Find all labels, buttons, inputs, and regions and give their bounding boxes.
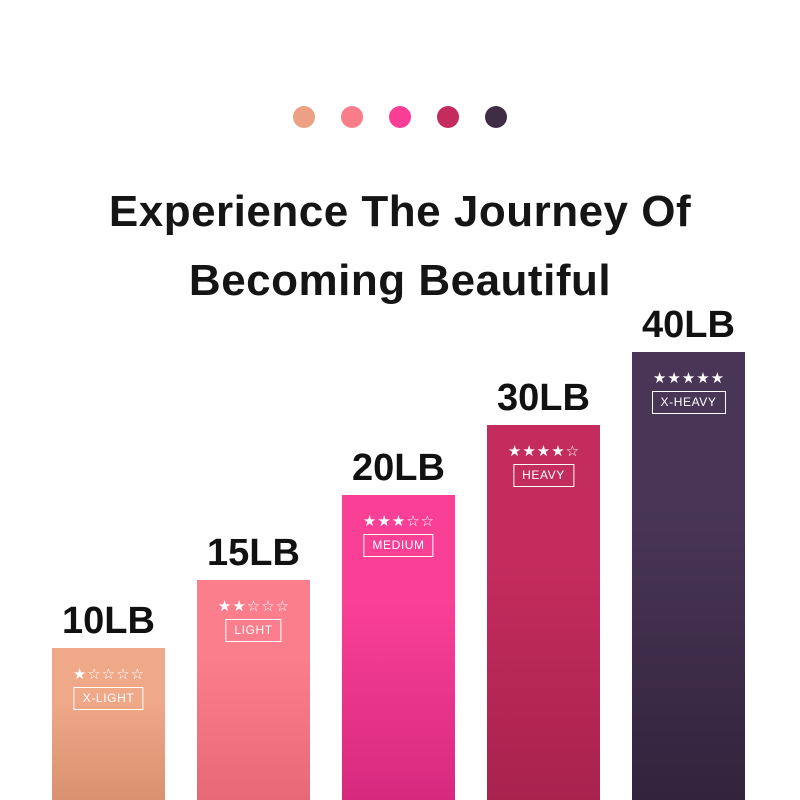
bar-badge: ★★★★★X-HEAVY — [652, 371, 726, 414]
bar-badge: ★★★★☆HEAVY — [508, 444, 579, 487]
star-rating: ★☆☆☆☆ — [73, 667, 144, 682]
resistance-level-bar-chart: 10LB★☆☆☆☆X-LIGHT15LB★★☆☆☆LIGHT20LB★★★☆☆M… — [0, 0, 800, 800]
star-filled-icon: ★ — [537, 444, 550, 459]
bar-badge: ★★☆☆☆LIGHT — [218, 599, 289, 642]
star-empty-icon: ☆ — [116, 667, 129, 682]
star-empty-icon: ☆ — [87, 667, 100, 682]
poster-canvas: Experience The Journey Of Becoming Beaut… — [0, 0, 800, 800]
bar-badge: ★★★☆☆MEDIUM — [363, 514, 434, 557]
star-filled-icon: ★ — [218, 599, 231, 614]
bar-weight-label: 20LB — [352, 449, 445, 487]
star-filled-icon: ★ — [73, 667, 86, 682]
level-label: HEAVY — [513, 464, 574, 487]
bar-weight-label: 40LB — [642, 306, 735, 344]
level-label: X-HEAVY — [652, 391, 726, 414]
star-empty-icon: ☆ — [261, 599, 274, 614]
star-filled-icon: ★ — [363, 514, 376, 529]
bar-weight-label: 30LB — [497, 379, 590, 417]
star-empty-icon: ☆ — [566, 444, 579, 459]
star-empty-icon: ☆ — [102, 667, 115, 682]
bar-group-15lb[interactable]: 15LB★★☆☆☆LIGHT — [197, 524, 310, 800]
star-filled-icon: ★ — [667, 371, 680, 386]
star-rating: ★★★★★ — [653, 371, 724, 386]
star-empty-icon: ☆ — [131, 667, 144, 682]
star-filled-icon: ★ — [653, 371, 666, 386]
star-filled-icon: ★ — [711, 371, 724, 386]
bar-group-40lb[interactable]: 40LB★★★★★X-HEAVY — [632, 296, 745, 800]
star-rating: ★★★★☆ — [508, 444, 579, 459]
star-filled-icon: ★ — [551, 444, 564, 459]
star-rating: ★★☆☆☆ — [218, 599, 289, 614]
star-filled-icon: ★ — [522, 444, 535, 459]
star-empty-icon: ☆ — [421, 514, 434, 529]
star-filled-icon: ★ — [232, 599, 245, 614]
level-label: MEDIUM — [363, 534, 433, 557]
star-empty-icon: ☆ — [247, 599, 260, 614]
bar-weight-label: 15LB — [207, 534, 300, 572]
star-filled-icon: ★ — [682, 371, 695, 386]
bar-group-20lb[interactable]: 20LB★★★☆☆MEDIUM — [342, 439, 455, 800]
star-empty-icon: ☆ — [276, 599, 289, 614]
level-label: LIGHT — [225, 619, 281, 642]
bar-column-40lb[interactable] — [632, 352, 745, 800]
level-label: X-LIGHT — [74, 687, 144, 710]
bar-badge: ★☆☆☆☆X-LIGHT — [73, 667, 144, 710]
star-empty-icon: ☆ — [406, 514, 419, 529]
bar-group-10lb[interactable]: 10LB★☆☆☆☆X-LIGHT — [52, 592, 165, 800]
bar-group-30lb[interactable]: 30LB★★★★☆HEAVY — [487, 369, 600, 800]
bar-weight-label: 10LB — [62, 602, 155, 640]
star-filled-icon: ★ — [508, 444, 521, 459]
star-filled-icon: ★ — [377, 514, 390, 529]
star-filled-icon: ★ — [696, 371, 709, 386]
star-filled-icon: ★ — [392, 514, 405, 529]
star-rating: ★★★☆☆ — [363, 514, 434, 529]
